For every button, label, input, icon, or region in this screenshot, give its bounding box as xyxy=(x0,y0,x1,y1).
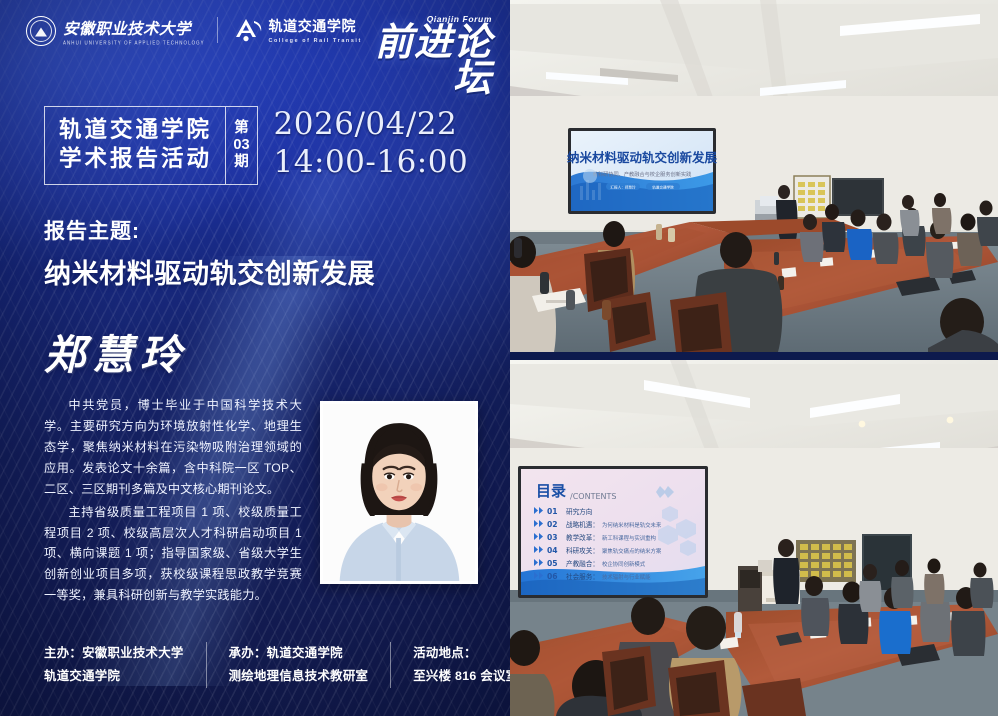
svg-text:05: 05 xyxy=(547,559,558,568)
report-subject: 报告主题: 纳米材料驱动轨交创新发展 xyxy=(44,215,510,291)
footer-host-label: 主办：安徽职业技术大学 xyxy=(44,642,184,665)
forum-name-cn: 前进论坛 xyxy=(362,25,492,98)
svg-text:汇报人：郑慧玲: 汇报人：郑慧玲 xyxy=(610,184,636,189)
svg-text:聚焦轨交痛点的纳米方案: 聚焦轨交痛点的纳米方案 xyxy=(602,547,662,555)
svg-text:教学改革：: 教学改革： xyxy=(566,533,599,542)
footer-host: 主办：安徽职业技术大学 轨道交通学院 xyxy=(44,642,206,688)
report-subject-label: 报告主题: xyxy=(44,215,510,245)
svg-text:06: 06 xyxy=(547,572,558,581)
footer-venue: 活动地点： 至兴楼 816 会议室 xyxy=(390,642,510,688)
speaker-bio-text: 中共党员，博士毕业于中国科学技术大学。主要研究方向为环境放射性化学、地理生态学，… xyxy=(44,395,302,609)
svg-text:03: 03 xyxy=(547,533,558,542)
title-date-row: 轨道交通学院 学术报告活动 第 03 期 2026/04/22 14:00-16… xyxy=(44,106,510,185)
college-name-en: College of Rail Transit xyxy=(269,38,362,44)
svg-text:轨道交通学院: 轨道交通学院 xyxy=(652,184,674,189)
svg-text:01: 01 xyxy=(547,507,558,516)
meeting-room-scene-top: 纳米材料驱动轨交创新发展 教科研协同、产教融合与校企服务创新实践 汇报人：郑慧玲… xyxy=(510,0,998,352)
svg-text:战略机遇：: 战略机遇： xyxy=(566,520,599,529)
svg-text:/CONTENTS: /CONTENTS xyxy=(570,492,616,501)
university-logo: 安徽职业技术大学 ANHUI UNIVERSITY OF APPLIED TEC… xyxy=(26,16,205,46)
svg-text:纳米材料驱动轨交创新发展: 纳米材料驱动轨交创新发展 xyxy=(567,150,718,165)
poster-page: 安徽职业技术大学 ANHUI UNIVERSITY OF APPLIED TEC… xyxy=(0,0,998,716)
svg-text:02: 02 xyxy=(547,520,558,529)
speaker-name: 郑慧玲 xyxy=(44,321,510,381)
photo-audience-view: 纳米材料驱动轨交创新发展 教科研协同、产教融合与校企服务创新实践 汇报人：郑慧玲… xyxy=(510,0,998,352)
event-title-box: 轨道交通学院 学术报告活动 第 03 期 xyxy=(44,106,258,185)
event-date: 2026/04/22 xyxy=(274,106,469,144)
event-datetime: 2026/04/22 14:00-16:00 xyxy=(274,103,469,185)
university-seal-icon xyxy=(26,16,56,46)
photo-column: 纳米材料驱动轨交创新发展 教科研协同、产教融合与校企服务创新实践 汇报人：郑慧玲… xyxy=(510,0,998,716)
speaker-bio-paragraph-2: 主持省级质量工程项目 1 项、校级质量工程项目 2 项、校级高层次人才科研启动项… xyxy=(44,502,302,607)
footer-venue-sub: 至兴楼 816 会议室 xyxy=(413,665,510,688)
poster-header: 安徽职业技术大学 ANHUI UNIVERSITY OF APPLIED TEC… xyxy=(0,0,510,62)
poster-footer: 主办：安徽职业技术大学 轨道交通学院 承办：轨道交通学院 测绘地理信息技术教研室… xyxy=(44,642,484,688)
svg-text:教科研协同、产教融合与校企服务创新实践: 教科研协同、产教融合与校企服务创新实践 xyxy=(593,170,692,178)
forum-brand: Qianjin Forum 前进论坛 xyxy=(362,14,492,98)
speaker-bio-paragraph-1: 中共党员，博士毕业于中国科学技术大学。主要研究方向为环境放射性化学、地理生态学，… xyxy=(44,395,302,500)
logo-divider xyxy=(217,17,218,43)
svg-text:为何纳米材料是轨交未来: 为何纳米材料是轨交未来 xyxy=(602,521,662,529)
issue-suffix: 期 xyxy=(234,154,249,171)
svg-text:04: 04 xyxy=(547,546,558,555)
college-logo: 轨道交通学院 College of Rail Transit xyxy=(229,16,362,44)
speaker-portrait-photo xyxy=(320,401,478,584)
svg-text:新工科课程与实训重构: 新工科课程与实训重构 xyxy=(602,534,657,542)
svg-text:科研攻关：: 科研攻关： xyxy=(566,546,599,555)
event-title-text: 轨道交通学院 学术报告活动 xyxy=(45,107,225,184)
svg-text:产教融合：: 产教融合： xyxy=(566,559,599,568)
photo-presenter-view: 目录 /CONTENTS 01 xyxy=(510,360,998,716)
footer-host-sub: 轨道交通学院 xyxy=(44,665,184,688)
event-title-line2: 学术报告活动 xyxy=(59,145,212,174)
speaker-bio-row: 中共党员，博士毕业于中国科学技术大学。主要研究方向为环境放射性化学、地理生态学，… xyxy=(0,395,510,609)
event-time: 14:00-16:00 xyxy=(274,144,469,182)
university-name-cn: 安徽职业技术大学 xyxy=(63,17,205,39)
footer-organizer-label: 承办：轨道交通学院 xyxy=(229,642,369,665)
issue-prefix: 第 xyxy=(234,120,249,137)
footer-organizer-sub: 测绘地理信息技术教研室 xyxy=(229,665,369,688)
event-title-line1: 轨道交通学院 xyxy=(59,116,212,145)
university-name-block: 安徽职业技术大学 ANHUI UNIVERSITY OF APPLIED TEC… xyxy=(63,17,205,45)
event-poster: 安徽职业技术大学 ANHUI UNIVERSITY OF APPLIED TEC… xyxy=(0,0,510,716)
footer-venue-label: 活动地点： xyxy=(413,642,510,665)
svg-text:社会服务：: 社会服务： xyxy=(566,572,599,581)
issue-number: 03 xyxy=(233,137,249,154)
university-name-en: ANHUI UNIVERSITY OF APPLIED TECHNOLOGY xyxy=(63,40,205,46)
meeting-room-scene-bottom: 目录 /CONTENTS 01 xyxy=(510,360,998,716)
report-subject-value: 纳米材料驱动轨交创新发展 xyxy=(44,252,510,291)
footer-organizer: 承办：轨道交通学院 测绘地理信息技术教研室 xyxy=(206,642,391,688)
svg-text:研究方向: 研究方向 xyxy=(566,507,592,516)
college-name-block: 轨道交通学院 College of Rail Transit xyxy=(269,16,362,44)
svg-text:校企协同创新模式: 校企协同创新模式 xyxy=(602,560,646,568)
issue-number-block: 第 03 期 xyxy=(226,107,256,184)
rail-transit-mark-icon xyxy=(229,17,263,43)
svg-text:目录: 目录 xyxy=(536,482,566,500)
college-name-cn: 轨道交通学院 xyxy=(269,16,362,36)
svg-text:技术辐射与行业赋能: 技术辐射与行业赋能 xyxy=(602,573,651,581)
